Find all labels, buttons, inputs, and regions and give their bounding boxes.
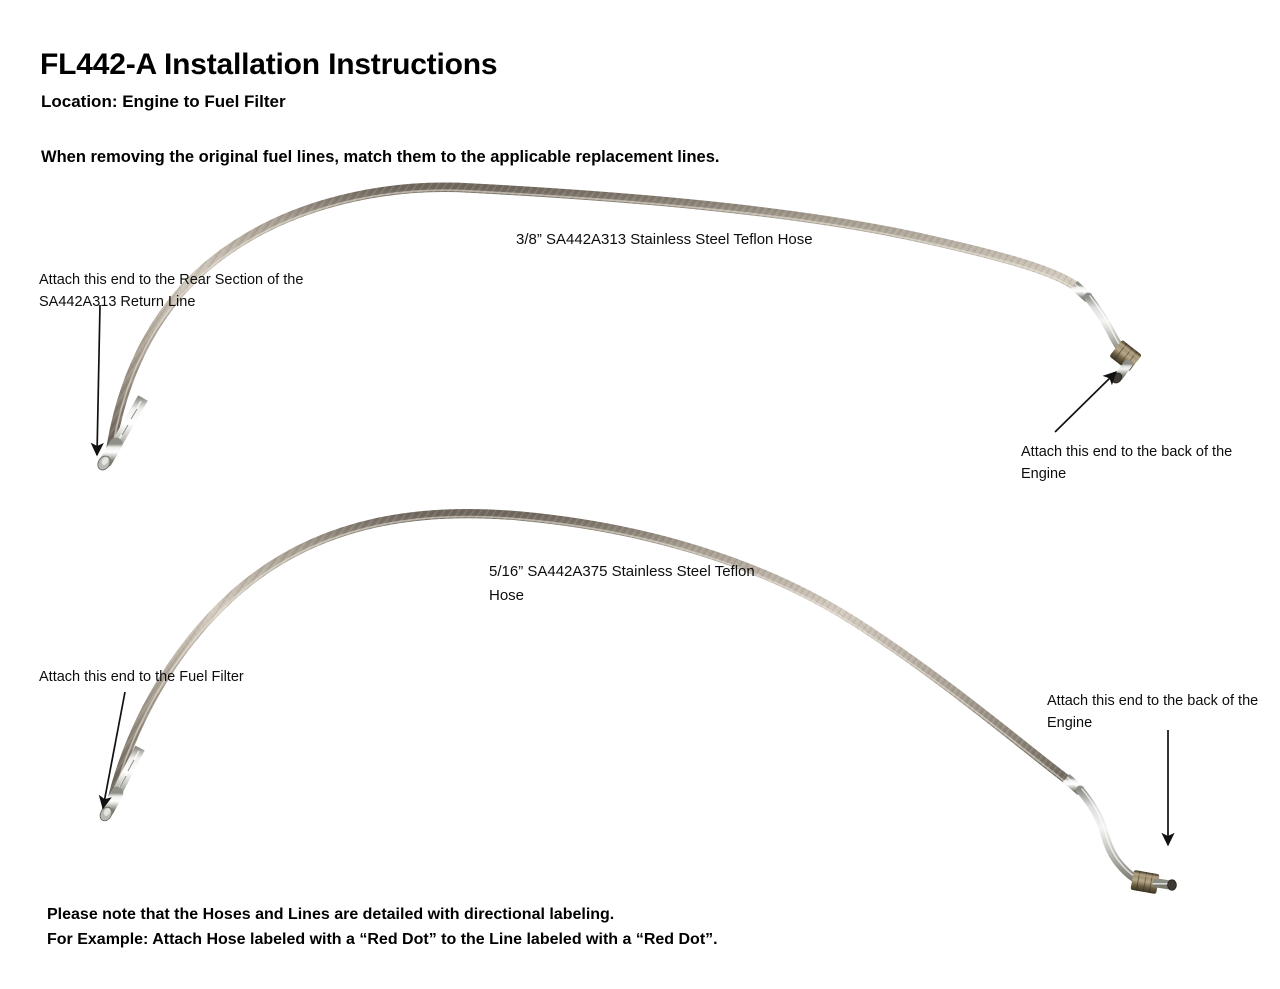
footer-note: Please note that the Hoses and Lines are… xyxy=(47,903,718,953)
arrow-lower-left xyxy=(103,692,125,808)
hose-lower-label: 5/16” SA442A375 Stainless Steel Teflon H… xyxy=(489,560,789,608)
callout-lower-left: Attach this end to the Fuel Filter xyxy=(39,666,269,688)
hose-lower-right-fitting xyxy=(1066,777,1176,894)
callout-upper-left: Attach this end to the Rear Section of t… xyxy=(39,269,314,314)
instruction-sheet-page: FL442-A Installation Instructions Locati… xyxy=(0,0,1280,989)
hose-lower-braid xyxy=(112,514,1070,800)
hose-lower-left-fitting xyxy=(98,748,140,823)
page-title: FL442-A Installation Instructions xyxy=(40,48,497,81)
hose-upper-left-fitting xyxy=(95,398,143,472)
hose-upper-right-fitting xyxy=(1074,284,1142,385)
callout-lower-right: Attach this end to the back of the Engin… xyxy=(1047,690,1280,735)
hose-upper-label: 3/8” SA442A313 Stainless Steel Teflon Ho… xyxy=(516,228,846,252)
arrow-upper-right xyxy=(1055,372,1116,432)
location-subtitle: Location: Engine to Fuel Filter xyxy=(41,92,286,112)
primary-instruction: When removing the original fuel lines, m… xyxy=(41,148,719,168)
arrow-upper-left xyxy=(97,305,100,455)
callout-upper-right: Attach this end to the back of the Engin… xyxy=(1021,441,1271,486)
